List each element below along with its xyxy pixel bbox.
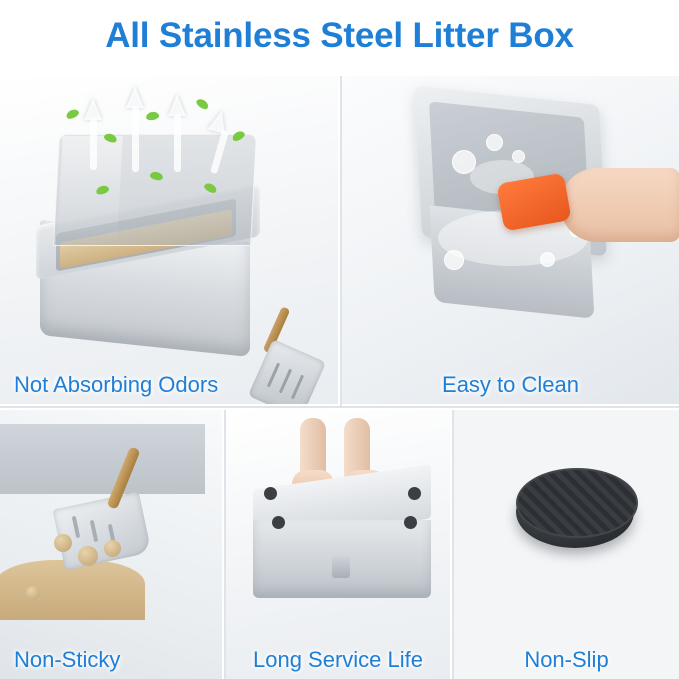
panel-caption: Easy to Clean: [342, 372, 679, 398]
sink-icon: [0, 424, 205, 494]
rubber-foot-icon: [264, 487, 277, 500]
latch-icon: [332, 556, 350, 578]
panel-not-absorbing-odors: Not Absorbing Odors: [0, 76, 338, 404]
page-title: All Stainless Steel Litter Box: [105, 16, 574, 56]
airflow-arrow-tail: [174, 114, 181, 172]
water-bubble-icon: [486, 134, 503, 151]
rubber-pad-icon: [516, 468, 638, 538]
divider-horizontal: [0, 406, 679, 408]
panel-caption: Non-Sticky: [0, 647, 120, 673]
product-infographic: All Stainless Steel Litter Box: [0, 0, 679, 679]
water-bubble-icon: [512, 150, 525, 163]
litter-pellet-icon: [26, 586, 40, 600]
airflow-arrow-icon: [84, 98, 102, 120]
rubber-foot-icon: [272, 516, 285, 529]
litter-pellet-icon: [78, 546, 98, 566]
airflow-arrow-tail: [90, 118, 97, 170]
panel-caption: Long Service Life: [226, 647, 450, 673]
rubber-foot-icon: [408, 487, 421, 500]
hand-icon: [560, 168, 679, 242]
water-bubble-icon: [444, 250, 464, 270]
water-bubble-icon: [452, 150, 476, 174]
panel-caption: Not Absorbing Odors: [0, 372, 218, 398]
litter-pile: [0, 560, 145, 620]
header-bar: All Stainless Steel Litter Box: [0, 0, 679, 72]
rubber-foot-icon: [404, 516, 417, 529]
airflow-arrow-tail: [132, 106, 139, 172]
airflow-arrow-icon: [126, 86, 144, 108]
airflow-arrow-icon: [168, 94, 186, 116]
water-bubble-icon: [540, 252, 555, 267]
litter-pellet-icon: [104, 540, 121, 557]
panel-caption: Non-Slip: [454, 647, 679, 673]
litter-pellet-icon: [54, 534, 72, 552]
